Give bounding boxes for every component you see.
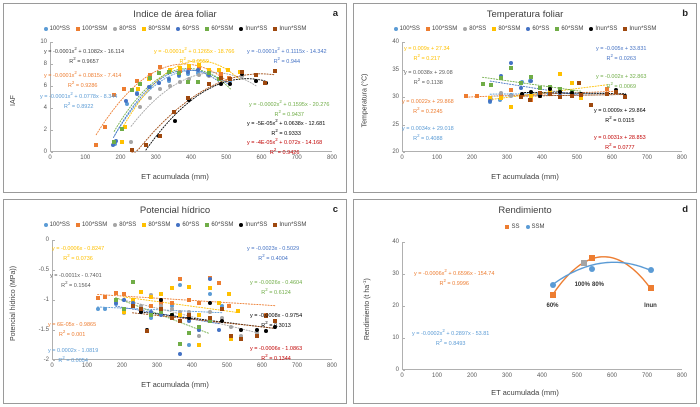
x-tick-label: 300 (502, 152, 512, 161)
panel-b: Temperatura foliar b 100*SS100*SSM80*SS8… (353, 3, 697, 193)
x-tick-label: 600 (607, 152, 617, 161)
legend-label: Inun*SS (595, 26, 617, 32)
legend-item-80ss[interactable]: 80*SS (463, 26, 486, 32)
equation-label: y = -0.002x + 32.863R2 = 0.0069 (596, 74, 646, 92)
data-point (220, 307, 224, 311)
equation-label: y = -0.0001x2 + 0.1115x - 14.342R2 = 0.9… (247, 46, 327, 67)
legend-label: 60*SS (532, 26, 549, 32)
data-point (489, 83, 493, 87)
data-point (229, 334, 233, 338)
data-point (227, 304, 231, 308)
equation-r2: R2 = 0.4004 (247, 253, 299, 263)
legend-label: Inun*SSM (279, 26, 306, 32)
panel-d-ylabel: Rendimiento (t ha-1) (363, 278, 371, 340)
legend-marker-icon (205, 223, 209, 227)
legend-label: 100*SSM (82, 222, 107, 228)
equation-text: y = -0.002x + 32.863 (596, 74, 646, 81)
x-tick-label: 400 (537, 152, 547, 161)
data-point (178, 80, 182, 84)
legend-label: 80*SSM (498, 26, 520, 32)
data-point (96, 307, 100, 311)
equation-r2: R2 = 0.9657 (44, 56, 124, 66)
data-point (548, 92, 552, 96)
data-point (138, 105, 142, 109)
data-point (168, 84, 172, 88)
legend-label: 60*SSM (211, 222, 233, 228)
equation-text: y = -5E-05x2 + 0.0638x - 12.681 (247, 118, 325, 128)
data-point (519, 81, 523, 85)
equation-label: y = -0.0002x2 + 0.2897x - 53.81R2 = 0.84… (412, 328, 489, 349)
data-point (648, 285, 654, 291)
data-point (170, 286, 174, 290)
x-tick-label: 600 (607, 370, 617, 379)
equation-text: y = -0.0023x - 0.5029 (247, 246, 299, 253)
equation-r2: R2 = 0.9426 (247, 147, 322, 157)
data-point (589, 103, 593, 107)
equation-label: y = 0.0002x - 1.0819R2 = 0.0054 (48, 348, 98, 366)
equation-label: y = -0.0006x - 0.8247R2 = 0.0736 (52, 246, 104, 264)
data-point (122, 87, 126, 91)
data-point (147, 85, 151, 89)
equation-text: y = -0.0001x2 + 0.1265x - 18.766 (154, 46, 234, 56)
legend-item-inunssm[interactable]: Inun*SSM (623, 26, 656, 32)
data-point (475, 94, 479, 98)
data-point (239, 328, 243, 332)
x-tick-label: 800 (677, 370, 687, 379)
equation-r2: R2 = 0.0777 (594, 142, 646, 152)
legend-label: 80*SSM (148, 222, 170, 228)
data-point (103, 125, 107, 129)
legend-item-60ss[interactable]: 60*SS (526, 26, 549, 32)
data-point (167, 77, 171, 81)
data-point (509, 61, 513, 65)
data-point (170, 316, 174, 320)
data-point (558, 95, 562, 99)
data-point (148, 76, 152, 80)
data-point (207, 82, 211, 86)
data-point (187, 298, 191, 302)
data-point (159, 307, 163, 311)
equation-text: y = 0.0031x + 28.853 (594, 135, 646, 142)
data-point (570, 81, 574, 85)
equation-text: y = 0.0022x + 29.868 (402, 99, 454, 106)
legend-item-80ss[interactable]: 80*SS (113, 26, 136, 32)
data-point (120, 140, 124, 144)
legend-label: 80*SS (119, 222, 136, 228)
legend-label: Inun*SS (245, 26, 267, 32)
panel-c-letter: c (333, 204, 338, 215)
data-point (220, 319, 224, 323)
panel-b-title: Temperatura foliar (354, 9, 696, 20)
data-point (170, 301, 174, 305)
y-tick-label: 40 (392, 239, 402, 245)
legend-marker-icon (142, 223, 146, 227)
data-point (548, 87, 552, 91)
x-tick-label: 300 (502, 370, 512, 379)
data-point (159, 298, 163, 302)
data-point (488, 99, 492, 103)
data-point (197, 73, 201, 77)
equation-text: y = -0.0001x2 + 0.1115x - 14.342 (247, 46, 327, 56)
data-point (519, 86, 523, 90)
panel-d-letter: d (682, 204, 688, 215)
data-point (114, 298, 118, 302)
y-tick-label: 10 (392, 335, 402, 341)
data-point (129, 140, 133, 144)
legend-item-100ssm[interactable]: 100*SSM (426, 26, 457, 32)
y-tick-label: 30 (392, 271, 402, 277)
data-point (240, 70, 244, 74)
equation-label: y = 0.0031x + 28.853R2 = 0.0777 (594, 135, 646, 153)
equation-label: y = -0.0002x2 + 0.1595x - 20.276R2 = 0.9… (249, 99, 329, 120)
x-tick-label: 200 (467, 152, 477, 161)
x-tick-label: 100 (432, 370, 442, 379)
data-point (149, 304, 153, 308)
data-point (263, 81, 267, 85)
data-point (187, 285, 191, 289)
legend-label: 60*SS (182, 222, 199, 228)
y-tick-label: 2 (44, 127, 50, 133)
data-point (529, 90, 533, 94)
data-point (605, 92, 609, 96)
legend-marker-icon (555, 27, 559, 31)
x-tick-label: 400 (537, 370, 547, 379)
data-point (96, 296, 100, 300)
panel-d: Rendimiento d SSSSM 01002003004005006007… (353, 199, 697, 404)
panel-c-title: Potencial hídrico (4, 205, 346, 216)
data-point (167, 70, 171, 74)
panel-a-xlabel: ET acumulada (mm) (4, 172, 346, 181)
data-point (157, 71, 161, 75)
data-point (228, 82, 232, 86)
data-point (219, 72, 223, 76)
equation-text: y = -0.0008x - 0.9754 (250, 313, 302, 320)
data-point (122, 307, 126, 311)
data-point (558, 72, 562, 76)
equation-label: y = -0.0006x2 + 0.6596x - 154.74R2 = 0.9… (414, 268, 494, 289)
data-point (589, 266, 595, 272)
data-point (186, 80, 190, 84)
data-point (273, 69, 277, 73)
data-point (648, 267, 654, 273)
legend-marker-icon (239, 27, 243, 31)
data-point (186, 96, 190, 100)
point-annotation: 80% (592, 282, 604, 288)
data-point (178, 319, 182, 323)
data-point (178, 352, 182, 356)
y-tick-label: 0 (44, 149, 50, 155)
equation-r2: R2 = 0.0069 (596, 81, 646, 91)
data-point (149, 295, 153, 299)
equation-r2: R2 = 0.0736 (52, 253, 104, 263)
panel-a: Indice de área foliar a 100*SS100*SSM80*… (3, 3, 347, 193)
legend-marker-icon (76, 223, 80, 227)
data-point (208, 310, 212, 314)
x-tick-label: 800 (327, 152, 337, 161)
data-point (187, 343, 191, 347)
data-point (208, 277, 212, 281)
data-point (519, 95, 523, 99)
data-point (509, 88, 513, 92)
legend-item-inunss[interactable]: Inun*SS (239, 222, 267, 228)
y-tick-label: 25 (392, 122, 402, 128)
y-tick-label: 0 (396, 367, 402, 373)
data-point (579, 93, 583, 97)
data-point (509, 94, 513, 98)
equation-r2: R2 = 0.1564 (50, 280, 102, 290)
legend-item-100ssm[interactable]: 100*SSM (76, 26, 107, 32)
equation-text: y = -0.0002x2 + 0.2897x - 53.81 (412, 328, 489, 338)
equation-text: y = -0.0006x - 0.8247 (52, 246, 104, 253)
data-point (570, 94, 574, 98)
legend-item-100ss[interactable]: 100*SS (44, 26, 70, 32)
x-tick-label: 400 (187, 360, 197, 369)
panel-a-legend: 100*SS100*SSM80*SS80*SSM60*SS60*SSMInun*… (4, 26, 346, 32)
data-point (196, 80, 200, 84)
equation-label: y = -0.005x + 33.831R2 = 0.0263 (596, 46, 646, 64)
legend-marker-icon (176, 223, 180, 227)
equation-label: y = -0.0001x2 + 0.0815x - 7.414R2 = 0.92… (44, 70, 121, 91)
data-point (122, 298, 126, 302)
legend-label: 60*SSM (211, 26, 233, 32)
equation-r2: R2 = 0.4088 (402, 133, 454, 143)
panel-c: Potencial hídrico c 100*SS100*SSM80*SS80… (3, 199, 347, 404)
data-point (144, 143, 148, 147)
legend-marker-icon (273, 223, 277, 227)
x-tick-label: 200 (115, 152, 125, 161)
legend-marker-icon (176, 27, 180, 31)
data-point (227, 292, 231, 296)
legend-marker-icon (76, 27, 80, 31)
legend-label: Inun*SSM (629, 26, 656, 32)
legend-item-ss[interactable]: SS (505, 224, 519, 230)
data-point (187, 313, 191, 317)
data-point (239, 337, 243, 341)
data-point (103, 307, 107, 311)
equation-r2: R2 = 0.1344 (250, 353, 302, 363)
data-point (178, 313, 182, 317)
legend-label: 100*SS (50, 26, 70, 32)
legend-item-100ssm[interactable]: 100*SSM (76, 222, 107, 228)
x-tick-label: 100 (432, 152, 442, 161)
panel-c-ylabel: Potencial hídrico (MPa)) (10, 266, 17, 341)
figure-grid: Indice de área foliar a 100*SS100*SSM80*… (0, 0, 700, 407)
data-point (187, 331, 191, 335)
equation-r2: R2 = 0.6124 (250, 287, 302, 297)
data-point (178, 342, 182, 346)
equation-r2: R2 = 0.9996 (414, 278, 494, 288)
data-point (158, 87, 162, 91)
equation-text: y = 0.009x + 27.34 (404, 46, 450, 53)
legend-label: SSM (532, 224, 545, 230)
data-point (159, 292, 163, 296)
equation-label: y = 6E-05x - 0.9865R2 = 0.001 (48, 322, 96, 340)
data-point (158, 134, 162, 138)
equation-label: y = -0.0001x2 + 0.0778x - 8.344R2 = 0.89… (40, 91, 117, 112)
legend-marker-icon (426, 27, 430, 31)
data-point (178, 283, 182, 287)
equation-r2: R2 = 0.8922 (40, 101, 117, 111)
data-point (528, 98, 532, 102)
y-tick-label: 30 (392, 94, 402, 100)
data-point (226, 68, 230, 72)
legend-item-inunss[interactable]: Inun*SS (239, 26, 267, 32)
data-point (186, 70, 190, 74)
equation-r2: R2 = 0.2245 (402, 106, 454, 116)
x-tick-label: 700 (642, 370, 652, 379)
equation-label: y = -0.0006x - 1.0863R2 = 0.1344 (250, 346, 302, 364)
data-point (217, 68, 221, 72)
legend-marker-icon (623, 27, 627, 31)
equation-r2: R2 = 0.3013 (250, 320, 302, 330)
equation-r2: R2 = 0.001 (48, 329, 96, 339)
data-point (577, 81, 581, 85)
legend-label: 60*SS (182, 26, 199, 32)
x-tick-label: 800 (677, 152, 687, 161)
data-point (145, 329, 149, 333)
data-point (589, 255, 595, 261)
data-point (114, 291, 118, 295)
panel-c-legend: 100*SS100*SSM80*SS80*SSM60*SS60*SSMInun*… (4, 222, 346, 228)
panel-d-plot: 010020030040050060070080001020304060%100… (402, 242, 682, 370)
x-tick-label: 500 (572, 152, 582, 161)
equation-text: y = -0.0002x2 + 0.1595x - 20.276 (249, 99, 329, 109)
legend-item-inunssm[interactable]: Inun*SSM (273, 222, 306, 228)
data-point (219, 76, 223, 80)
legend-item-100ss[interactable]: 100*SS (394, 26, 420, 32)
legend-item-80ss[interactable]: 80*SS (113, 222, 136, 228)
panel-d-legend: SSSSM (354, 224, 696, 230)
legend-item-inunss[interactable]: Inun*SS (589, 26, 617, 32)
legend-marker-icon (113, 223, 117, 227)
data-point (120, 127, 124, 131)
equation-label: y = -0.0001x2 + 0.1265x - 18.766R2 = 0.9… (154, 46, 234, 67)
point-annotation: 100% (575, 282, 590, 288)
legend-label: 100*SSM (432, 26, 457, 32)
legend-label: Inun*SS (245, 222, 267, 228)
legend-item-60ss[interactable]: 60*SS (176, 26, 199, 32)
data-point (529, 79, 533, 83)
equation-r2: R2 = 0.217 (404, 53, 450, 63)
point-annotation: 60% (546, 303, 558, 309)
equation-label: y = 0.0038x + 29.08R2 = 0.1138 (404, 70, 453, 88)
legend-item-80ssm[interactable]: 80*SSM (492, 26, 520, 32)
y-tick-label: 20 (392, 149, 402, 155)
data-point (481, 82, 485, 86)
data-point (197, 343, 201, 347)
equation-text: y = -0.0006x2 + 0.6596x - 154.74 (414, 268, 494, 278)
legend-label: 100*SS (50, 222, 70, 228)
legend-label: 80*SSM (148, 26, 170, 32)
data-point (236, 309, 240, 313)
data-point (499, 76, 503, 80)
x-tick-label: 400 (186, 152, 196, 161)
panel-a-ylabel: IAF (10, 95, 17, 106)
legend-marker-icon (44, 223, 48, 227)
panel-c-xlabel: ET acumulada (mm) (4, 380, 346, 389)
equation-text: y = 0.0009x + 29.864 (594, 108, 646, 115)
data-point (178, 277, 182, 281)
equation-r2: R2 = 0.0115 (594, 115, 646, 125)
x-tick-label: 500 (572, 370, 582, 379)
panel-b-xlabel: ET acumulada (mm) (354, 172, 696, 181)
legend-label: 60*SSM (561, 26, 583, 32)
data-point (130, 88, 134, 92)
legend-label: 80*SS (119, 26, 136, 32)
legend-item-inunssm[interactable]: Inun*SSM (273, 26, 306, 32)
data-point (136, 87, 140, 91)
equation-r2: R2 = 0.1138 (404, 77, 453, 87)
equation-r2: R2 = 0.944 (247, 56, 327, 66)
data-point (499, 96, 503, 100)
equation-text: y = 0.0002x - 1.0819 (48, 348, 98, 355)
legend-item-100ss[interactable]: 100*SS (44, 222, 70, 228)
data-point (538, 86, 542, 90)
equation-text: y = -0.0001x2 + 0.1082x - 16.114 (44, 46, 124, 56)
legend-item-60ssm[interactable]: 60*SSM (205, 26, 233, 32)
equation-r2: R2 = 0.9286 (44, 80, 121, 90)
point-annotation: Inun (644, 303, 657, 309)
data-point (219, 82, 223, 86)
legend-marker-icon (463, 27, 467, 31)
data-point (208, 316, 212, 320)
equation-text: y = -0.0006x - 1.0863 (250, 346, 302, 353)
data-point (529, 75, 533, 79)
data-point (196, 68, 200, 72)
equation-r2: R2 = 0.9559 (154, 56, 234, 66)
data-point (157, 81, 161, 85)
data-point (197, 325, 201, 329)
legend-marker-icon (44, 27, 48, 31)
data-point (197, 301, 201, 305)
legend-label: 80*SS (469, 26, 486, 32)
y-tick-label: 10 (40, 39, 50, 45)
equation-label: y = -0.0011x - 0.7401R2 = 0.1564 (50, 273, 102, 291)
data-point (131, 280, 135, 284)
data-point (197, 334, 201, 338)
data-point (208, 301, 212, 305)
legend-item-ssm[interactable]: SSM (526, 224, 545, 230)
data-point (124, 99, 128, 103)
x-tick-label: 500 (221, 152, 231, 161)
legend-item-60ssm[interactable]: 60*SSM (555, 26, 583, 32)
equation-text: y = -0.0001x2 + 0.0778x - 8.344 (40, 91, 117, 101)
data-point (139, 307, 143, 311)
legend-item-80ssm[interactable]: 80*SSM (142, 222, 170, 228)
legend-marker-icon (526, 225, 530, 229)
equation-label: y = -0.0001x2 + 0.1082x - 16.114R2 = 0.9… (44, 46, 124, 67)
data-point (139, 290, 143, 294)
data-point (254, 79, 258, 83)
data-point (122, 292, 126, 296)
legend-item-60ssm[interactable]: 60*SSM (205, 222, 233, 228)
legend-item-60ss[interactable]: 60*SS (176, 222, 199, 228)
legend-item-80ssm[interactable]: 80*SSM (142, 26, 170, 32)
equation-text: y = -0.005x + 33.831 (596, 46, 646, 53)
equation-r2: R2 = 0.0263 (596, 53, 646, 63)
legend-marker-icon (205, 27, 209, 31)
panel-a-title: Indice de área foliar (4, 9, 346, 20)
data-point (217, 328, 221, 332)
equation-text: y = -0.0026x - 0.4604 (250, 280, 302, 287)
data-point (170, 307, 174, 311)
equation-label: y = -0.0023x - 0.5029R2 = 0.4004 (247, 246, 299, 264)
equation-label: y = -5E-05x2 + 0.0638x - 12.681R2 = 0.93… (247, 118, 325, 139)
y-tick-label: 40 (392, 39, 402, 45)
x-tick-label: 300 (152, 360, 162, 369)
data-point (499, 91, 503, 95)
data-point (228, 77, 232, 81)
